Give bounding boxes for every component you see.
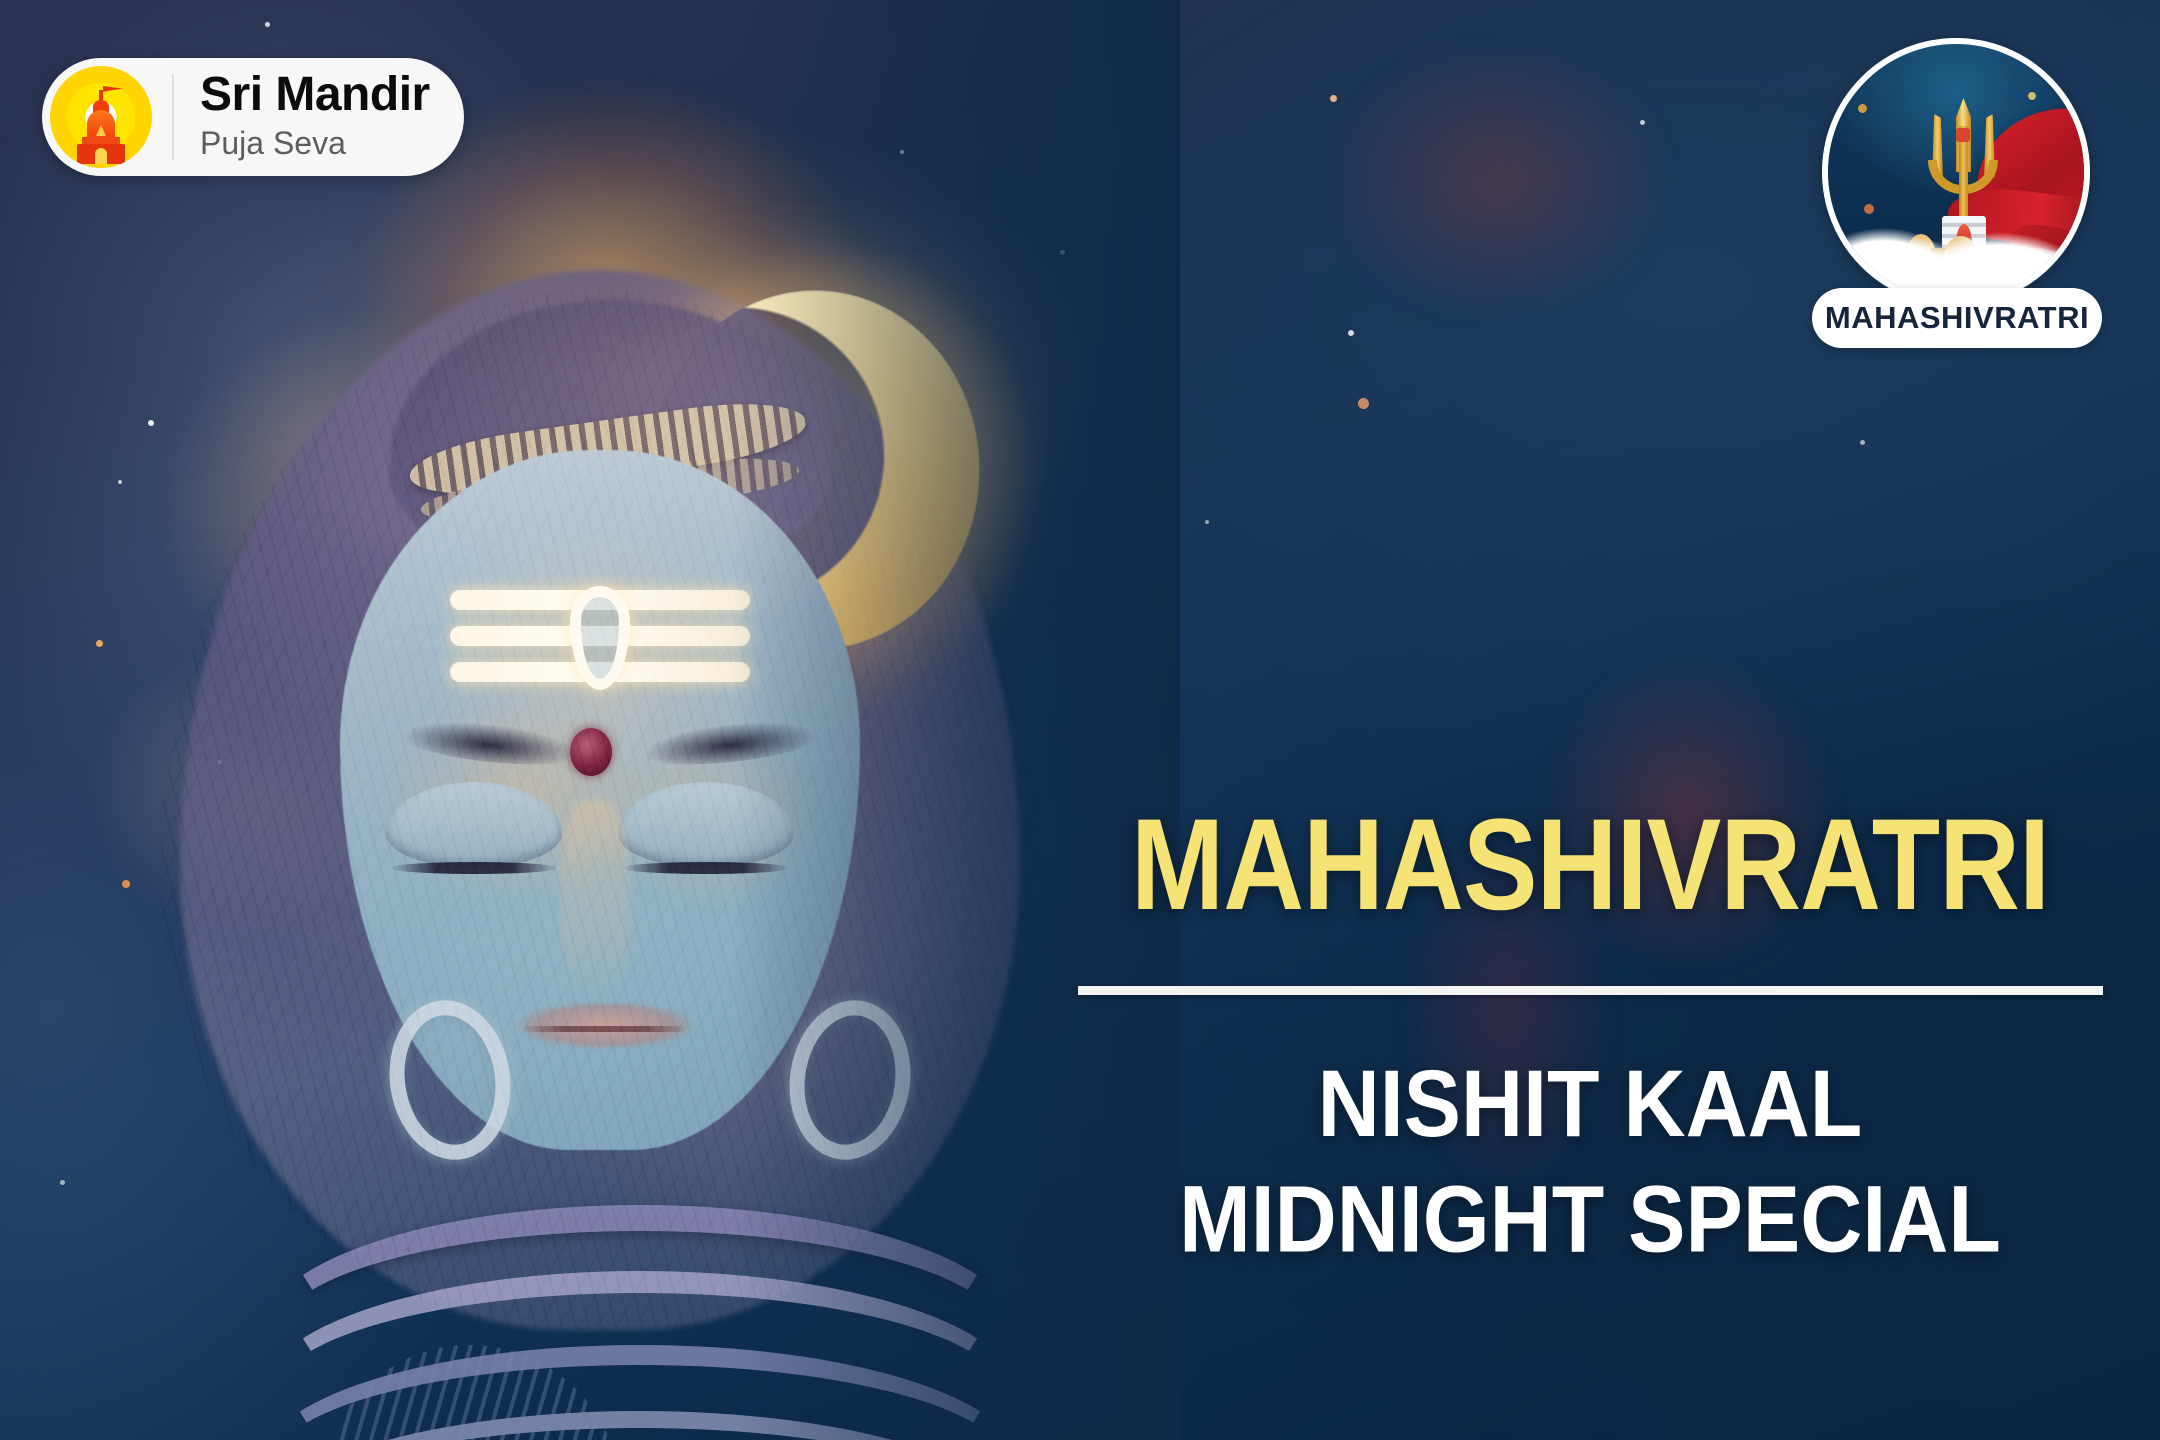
- shiva-meditating-illustration: [90, 120, 1110, 1440]
- flag-icon: [103, 86, 123, 96]
- subtitle-line-2: MIDNIGHT SPECIAL: [1060, 1162, 2120, 1277]
- brand-badge[interactable]: Sri Mandir Puja Seva: [42, 58, 464, 176]
- festival-logo-label-text: MAHASHIVRATRI: [1825, 300, 2089, 336]
- brand-divider: [172, 74, 174, 160]
- festival-logo-circle: [1822, 38, 2090, 306]
- brand-name: Sri Mandir: [200, 71, 430, 120]
- page-title: MAHASHIVRATRI: [1060, 800, 2120, 930]
- poster-text-block: MAHASHIVRATRI NISHIT KAAL MIDNIGHT SPECI…: [1060, 800, 2120, 1257]
- poster-subtitle: NISHIT KAAL MIDNIGHT SPECIAL: [1060, 1047, 2120, 1278]
- temple-logo-icon: [50, 66, 152, 168]
- title-divider: [1078, 986, 2103, 995]
- brand-tagline: Puja Seva: [200, 124, 430, 162]
- subtitle-line-1: NISHIT KAAL: [1060, 1047, 2120, 1162]
- festival-logo[interactable]: MAHASHIVRATRI: [1812, 38, 2102, 348]
- mahashivratri-poster: Sri Mandir Puja Seva: [0, 0, 2160, 1440]
- festival-logo-label: MAHASHIVRATRI: [1812, 288, 2102, 348]
